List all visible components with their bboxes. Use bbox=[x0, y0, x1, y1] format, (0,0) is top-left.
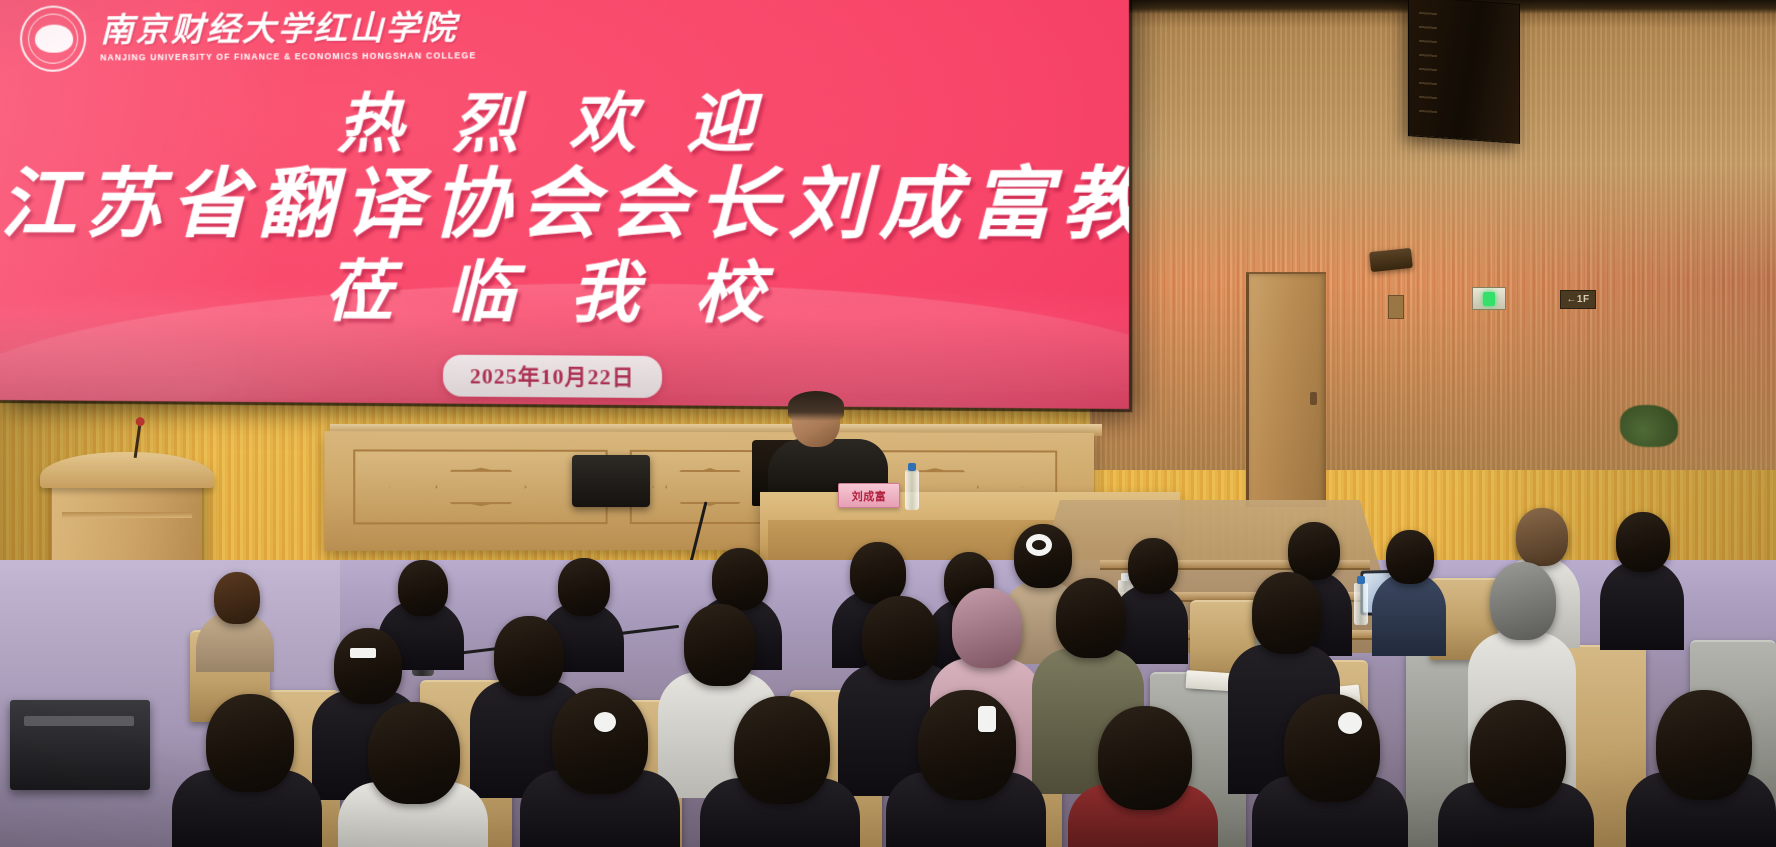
audience-person-head bbox=[1284, 694, 1380, 802]
stage-chair bbox=[572, 455, 650, 507]
audience-person-head bbox=[558, 558, 610, 616]
audience-person-head bbox=[862, 596, 938, 680]
audience-person-head bbox=[918, 690, 1016, 800]
wall-speaker-icon bbox=[1408, 0, 1520, 144]
university-seal-icon bbox=[20, 5, 86, 72]
audience-person-head bbox=[1288, 522, 1340, 580]
banner-headline: 热 烈 欢 迎 江苏省翻译协会会长刘成富教授 莅 临 我 校 bbox=[0, 87, 1129, 334]
audience-person-head bbox=[494, 616, 564, 696]
led-banner-screen: 南京财经大学红山学院 NANJING UNIVERSITY OF FINANCE… bbox=[0, 0, 1129, 409]
audience-person-body bbox=[1600, 560, 1684, 650]
hair-clip-icon bbox=[350, 648, 376, 658]
equipment-case bbox=[10, 700, 150, 790]
headline-line-2: 江苏省翻译协会会长刘成富教授 bbox=[0, 159, 1129, 253]
potted-plant-icon bbox=[1620, 405, 1678, 447]
audience-person-head bbox=[850, 542, 906, 604]
water-bottle-icon bbox=[905, 470, 919, 510]
headline-line-1: 热 烈 欢 迎 bbox=[0, 87, 1129, 159]
speaker-hair bbox=[788, 391, 844, 421]
audience-person-head bbox=[1516, 508, 1568, 566]
university-logo: 南京财经大学红山学院 NANJING UNIVERSITY OF FINANCE… bbox=[20, 2, 476, 72]
hair-clip-icon bbox=[978, 706, 996, 732]
banner-date-badge: 2025年10月22日 bbox=[443, 355, 662, 398]
audience-person-head bbox=[1656, 690, 1752, 800]
hair-clip-icon bbox=[1026, 534, 1052, 556]
speaker-nameplate: 刘成富 bbox=[838, 483, 900, 508]
water-bottle-icon bbox=[1354, 583, 1368, 625]
audience-person-head bbox=[684, 604, 756, 686]
audience-person-head bbox=[712, 548, 768, 610]
audience-person-head bbox=[552, 688, 648, 794]
podium-trim bbox=[62, 512, 192, 518]
audience-person-head bbox=[1470, 700, 1566, 808]
audience-person-head bbox=[952, 588, 1022, 668]
headline-line-3: 莅 临 我 校 bbox=[0, 255, 1129, 335]
audience-person-head bbox=[1056, 578, 1126, 658]
stage-door[interactable] bbox=[1246, 272, 1326, 507]
audience-person-head bbox=[1098, 706, 1192, 810]
audience-person-head bbox=[1386, 530, 1434, 584]
wall-vent-icon bbox=[1388, 295, 1404, 319]
university-name-cn: 南京财经大学红山学院 bbox=[100, 12, 476, 48]
audience-person-head bbox=[1616, 512, 1670, 572]
audience-person-head bbox=[398, 560, 448, 616]
audience-person-head bbox=[206, 694, 294, 792]
audience-person-body bbox=[1372, 572, 1446, 656]
audience-person-head bbox=[1252, 572, 1322, 654]
emergency-exit-icon bbox=[1472, 287, 1506, 310]
audience-person-head bbox=[368, 702, 460, 804]
hair-clip-icon bbox=[1338, 712, 1362, 734]
audience-person-head bbox=[214, 572, 260, 624]
audience-person-head bbox=[1490, 562, 1556, 640]
door-knob-icon bbox=[1310, 392, 1317, 405]
hair-clip-icon bbox=[594, 712, 616, 732]
panel-diamond-icon bbox=[435, 470, 527, 504]
audience-person-head bbox=[1128, 538, 1178, 594]
audience-person-head bbox=[734, 696, 830, 804]
lecture-hall-photo: ←1F 南京财经大学红山学院 NANJING UNIVERSITY OF FIN… bbox=[0, 0, 1776, 847]
university-name-en: NANJING UNIVERSITY OF FINANCE & ECONOMIC… bbox=[100, 51, 476, 62]
stage-panel bbox=[353, 449, 607, 524]
audience-person-head bbox=[334, 628, 402, 704]
floor-direction-sign: ←1F bbox=[1560, 290, 1596, 309]
panel-diamond-icon bbox=[665, 470, 755, 504]
nameplate-text: 刘成富 bbox=[852, 488, 887, 504]
